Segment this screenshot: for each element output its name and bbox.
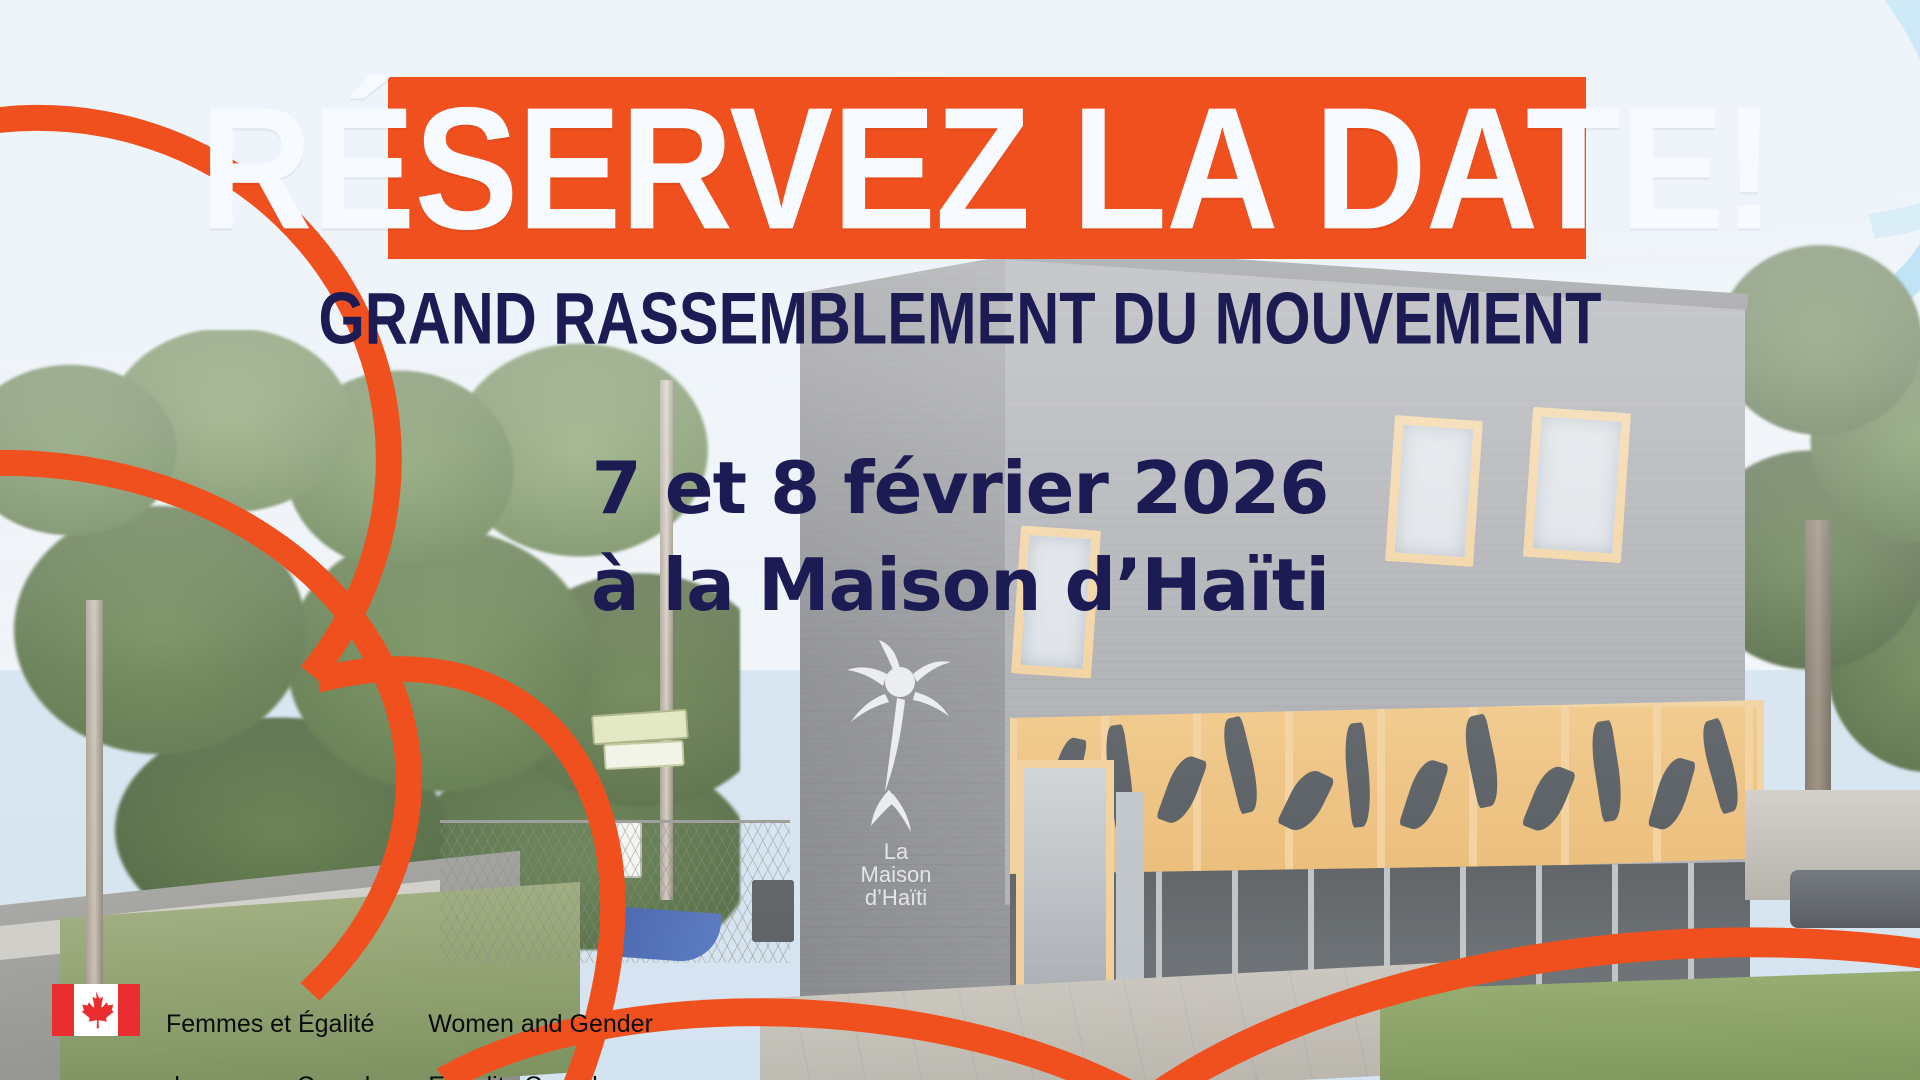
street-sign-lower [603,740,684,770]
headline-banner: RÉSERVEZ LA DATE! [388,77,1586,259]
wordmark-english-line-2: Equality Canada [428,1071,653,1080]
event-details: 7 et 8 février 2026 à la Maison d’Haïti [0,440,1920,634]
wordmark-texts: Femmes et Égalité des genres Canada Wome… [166,978,653,1080]
parked-cars [1790,870,1920,928]
building-logo-line-1: La [836,840,956,863]
wordmark-french: Femmes et Égalité des genres Canada [166,978,384,1080]
trash-bin [752,880,794,942]
event-venue: à la Maison d’Haïti [0,537,1920,634]
subtitle-text: GRAND RASSEMBLEMENT DU MOUVEMENT [38,282,1881,358]
government-wordmark: Femmes et Égalité des genres Canada Wome… [52,978,653,1080]
maison-dhaiti-palm-icon [845,640,955,840]
building-logo-line-3: d’Haïti [836,886,956,909]
wordmark-english-line-1: Women and Gender [428,1009,653,1040]
wordmark-english: Women and Gender Equality Canada [428,978,653,1080]
wordmark-french-line-1: Femmes et Égalité [166,1009,384,1040]
building-logo-line-2: Maison [836,863,956,886]
wordmark-french-line-2: des genres Canada [166,1071,384,1080]
headline-text: RÉSERVEZ LA DATE! [200,81,1774,255]
poster-canvas: La Maison d’Haïti [0,0,1920,1080]
event-date: 7 et 8 février 2026 [0,440,1920,537]
utility-pole-left [86,600,103,1020]
grass-strip-right [1380,970,1920,1080]
canada-flag-icon [52,984,140,1036]
building-logo-text: La Maison d’Haïti [836,840,956,909]
